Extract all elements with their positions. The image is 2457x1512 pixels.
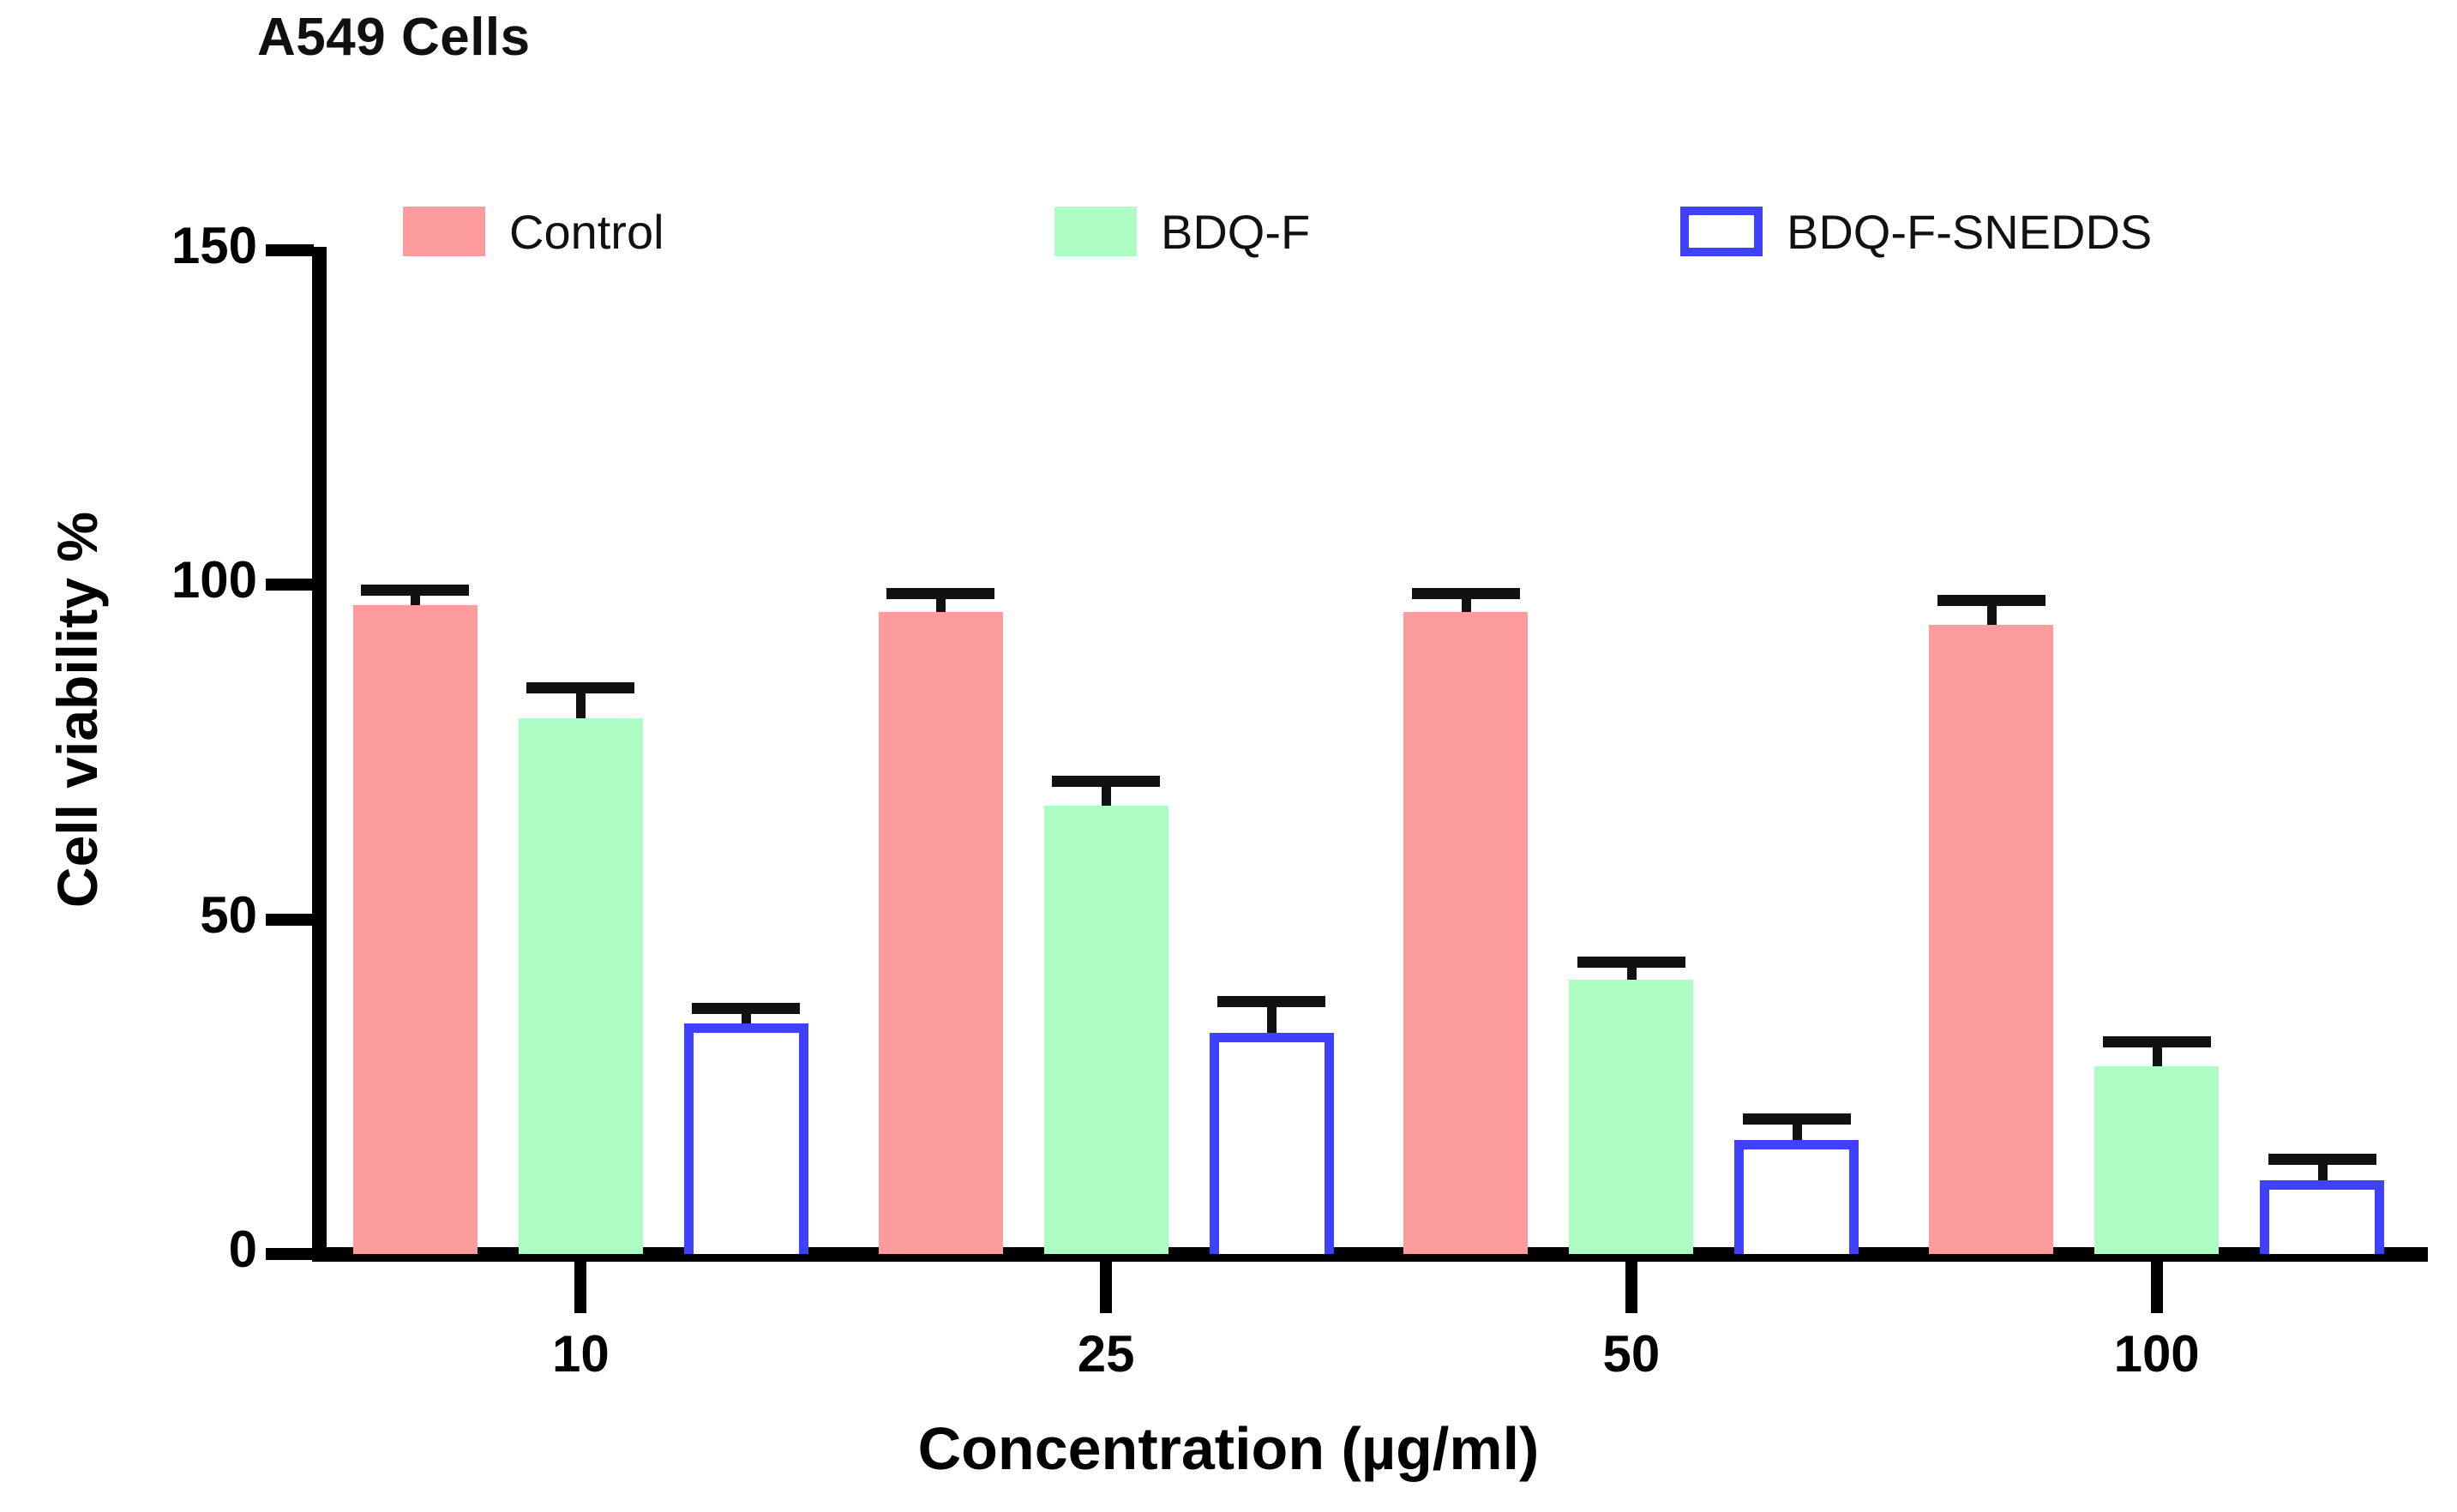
x-tick-mark xyxy=(574,1262,586,1313)
bar-bdq-f-50 xyxy=(1569,980,1693,1254)
figure-root: A549 Cells Control BDQ-F BDQ-F-SNEDDS 05… xyxy=(0,0,2457,1512)
plot-area: 050100150 102550100 Cell viability % Con… xyxy=(0,0,2457,1512)
error-bar-cap xyxy=(1743,1113,1851,1125)
bar-control-10 xyxy=(353,605,478,1254)
error-bar-cap xyxy=(361,585,469,596)
y-axis-line xyxy=(312,247,327,1260)
y-tick-mark xyxy=(266,1248,314,1260)
y-axis-title: Cell viability % xyxy=(45,384,110,1035)
bar-control-100 xyxy=(1929,625,2053,1254)
bar-bdq-f-snedds-10 xyxy=(684,1023,808,1254)
y-tick-mark xyxy=(266,579,314,591)
error-bar-cap xyxy=(1217,996,1325,1007)
x-tick-label: 100 xyxy=(2114,1324,2200,1383)
bar-bdq-f-snedds-25 xyxy=(1210,1033,1334,1254)
y-tick-mark xyxy=(266,244,314,256)
y-tick-mark xyxy=(266,914,314,926)
x-axis-title: Concentration (µg/ml) xyxy=(0,1414,2457,1483)
error-bar-cap xyxy=(1937,595,2045,606)
x-tick-label: 25 xyxy=(1078,1324,1135,1383)
error-bar-cap xyxy=(2268,1154,2376,1165)
x-tick-mark xyxy=(2151,1262,2163,1313)
bar-bdq-f-100 xyxy=(2094,1066,2219,1254)
error-bar-cap xyxy=(692,1003,800,1014)
bar-bdq-f-10 xyxy=(519,718,643,1254)
error-bar-cap xyxy=(1052,776,1160,787)
x-tick-label: 50 xyxy=(1603,1324,1661,1383)
x-tick-label: 10 xyxy=(552,1324,610,1383)
bar-control-50 xyxy=(1403,612,1528,1254)
bar-bdq-f-snedds-100 xyxy=(2260,1180,2384,1254)
error-bar-cap xyxy=(1412,588,1520,599)
bar-control-25 xyxy=(879,612,1003,1254)
y-tick-label: 0 xyxy=(60,1220,257,1279)
error-bar-cap xyxy=(526,682,634,693)
error-bar-cap xyxy=(886,588,994,599)
bar-bdq-f-25 xyxy=(1044,806,1168,1254)
error-bar-cap xyxy=(1577,957,1685,968)
bar-bdq-f-snedds-50 xyxy=(1734,1140,1859,1254)
x-tick-mark xyxy=(1625,1262,1637,1313)
x-tick-mark xyxy=(1100,1262,1112,1313)
error-bar-cap xyxy=(2103,1036,2211,1047)
y-tick-label: 150 xyxy=(60,216,257,275)
